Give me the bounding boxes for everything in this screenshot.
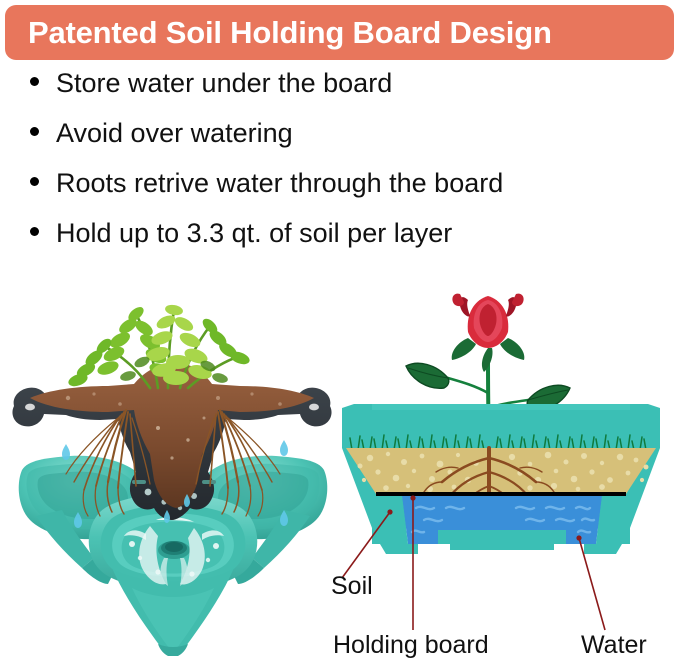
list-item: Avoid over watering <box>0 118 679 168</box>
bullet-dot-icon <box>30 127 39 136</box>
feature-text: Hold up to 3.3 qt. of soil per layer <box>56 218 452 248</box>
bullet-dot-icon <box>30 227 39 236</box>
feature-text: Roots retrive water through the board <box>56 168 503 198</box>
list-item: Store water under the board <box>0 68 679 118</box>
feature-text: Store water under the board <box>56 68 392 98</box>
bullet-dot-icon <box>30 77 39 86</box>
page-title: Patented Soil Holding Board Design <box>5 15 552 51</box>
feature-list: Store water under the board Avoid over w… <box>0 68 679 268</box>
plant-foliage <box>67 304 252 389</box>
figures-region <box>0 258 679 665</box>
list-item: Roots retrive water through the board <box>0 168 679 218</box>
rose-flower <box>452 294 525 372</box>
pot-cross-section-diagram <box>330 258 679 665</box>
stackable-planter-photo <box>8 258 338 658</box>
header-banner: Patented Soil Holding Board Design <box>5 5 674 60</box>
label-water: Water <box>581 632 647 658</box>
bullet-dot-icon <box>30 177 39 186</box>
label-holding-board: Holding board <box>333 632 489 658</box>
label-soil: Soil <box>331 573 373 599</box>
feature-text: Avoid over watering <box>56 118 293 148</box>
holding-board-line <box>376 492 626 496</box>
soil-layer <box>346 448 656 494</box>
